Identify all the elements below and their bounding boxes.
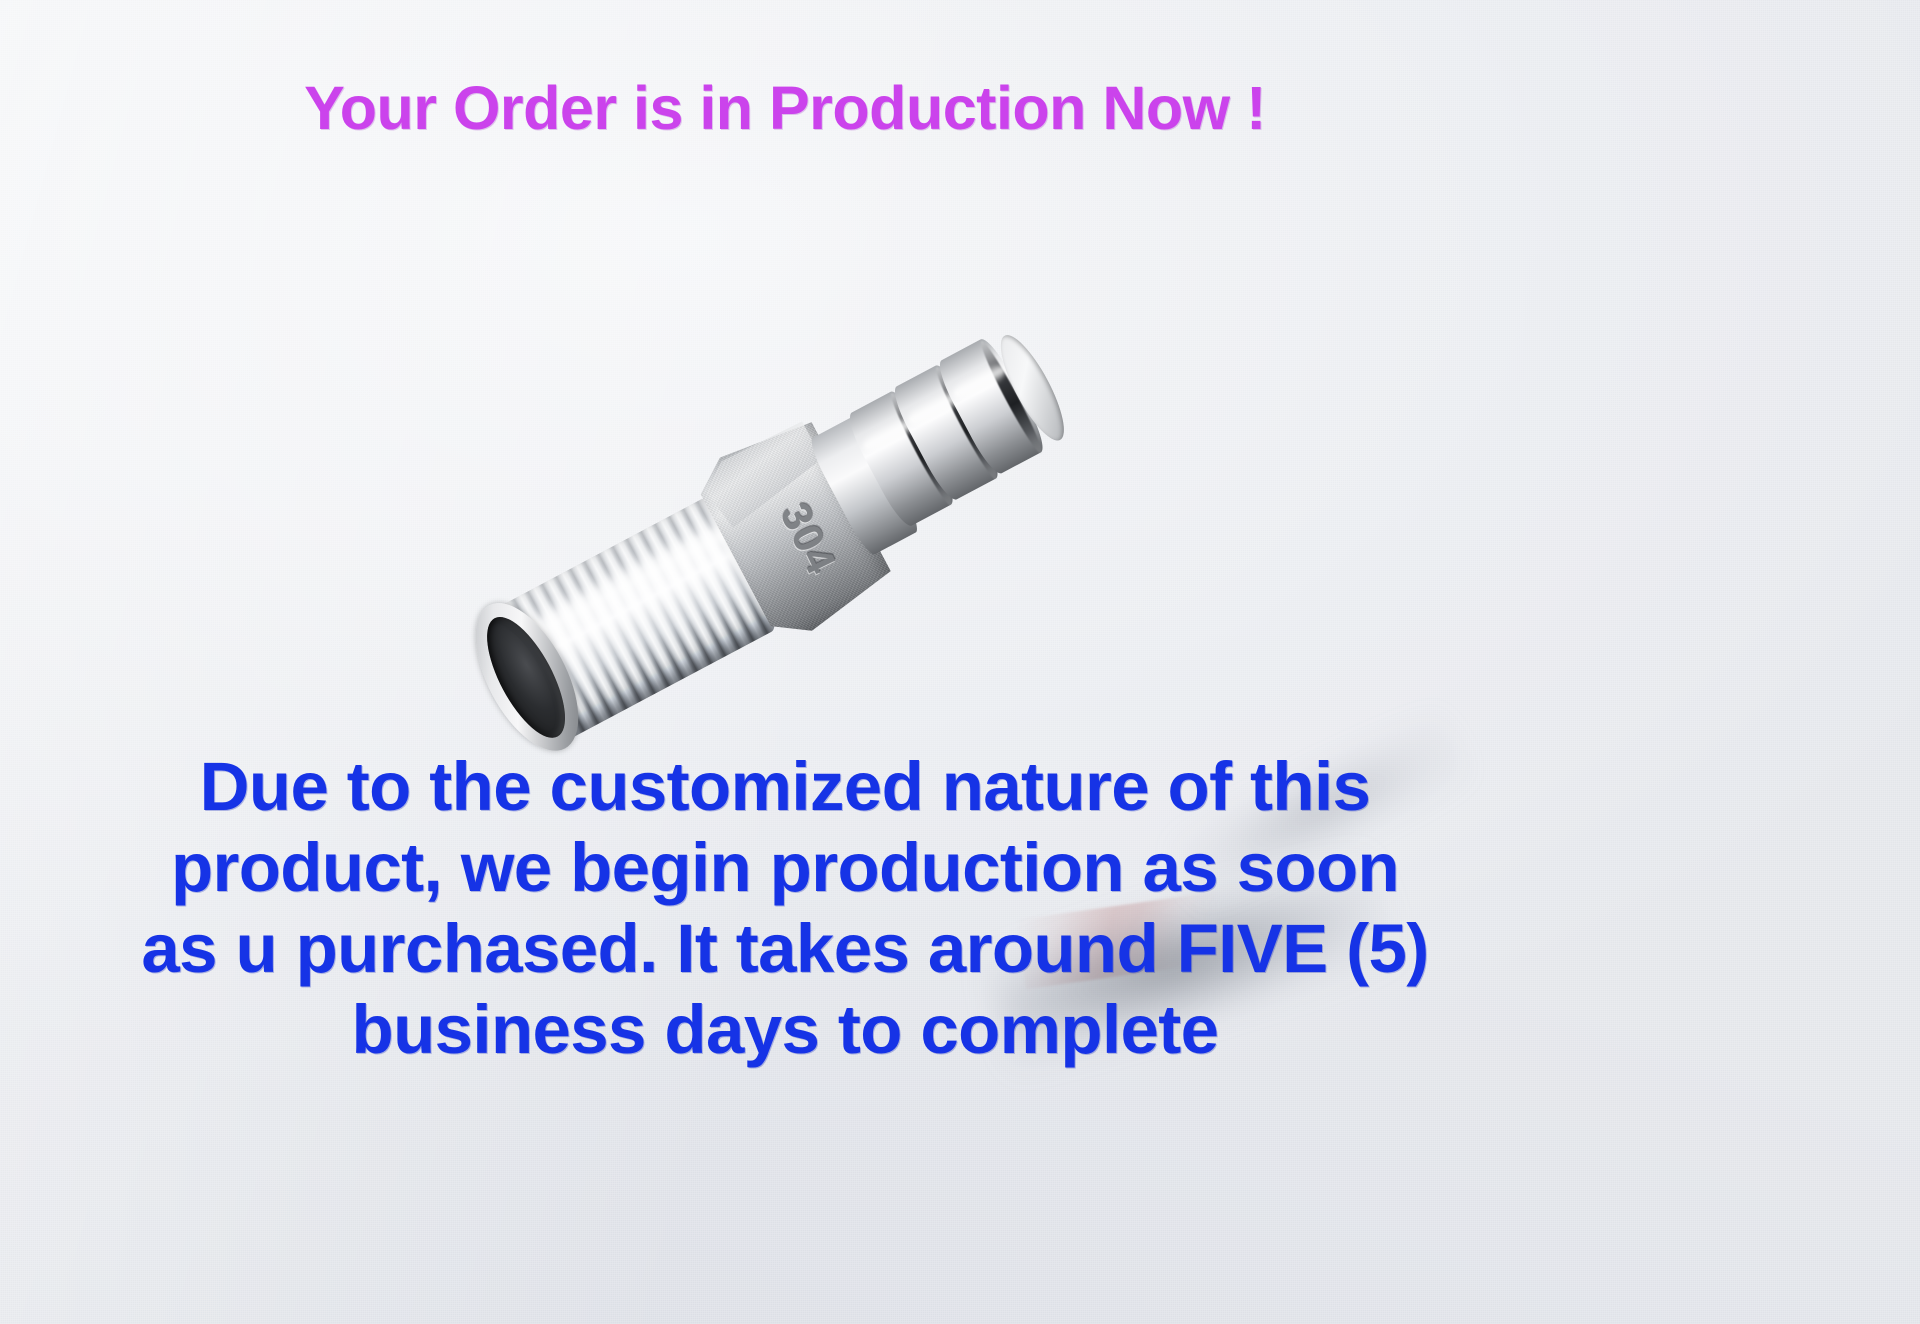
production-notice-banner: Your Order is in Production Now ! 304 bbox=[0, 0, 1920, 1324]
product-photo: 304 bbox=[470, 300, 1130, 720]
notice-line-1: Due to the customized nature of this bbox=[0, 746, 1570, 827]
production-notice-text: Due to the customized nature of this pro… bbox=[0, 746, 1570, 1070]
notice-line-3: as u purchased. It takes around FIVE (5) bbox=[0, 908, 1570, 989]
notice-line-4: business days to complete bbox=[0, 989, 1570, 1070]
page-title: Your Order is in Production Now ! bbox=[0, 73, 1570, 143]
notice-line-2: product, we begin production as soon bbox=[0, 827, 1570, 908]
